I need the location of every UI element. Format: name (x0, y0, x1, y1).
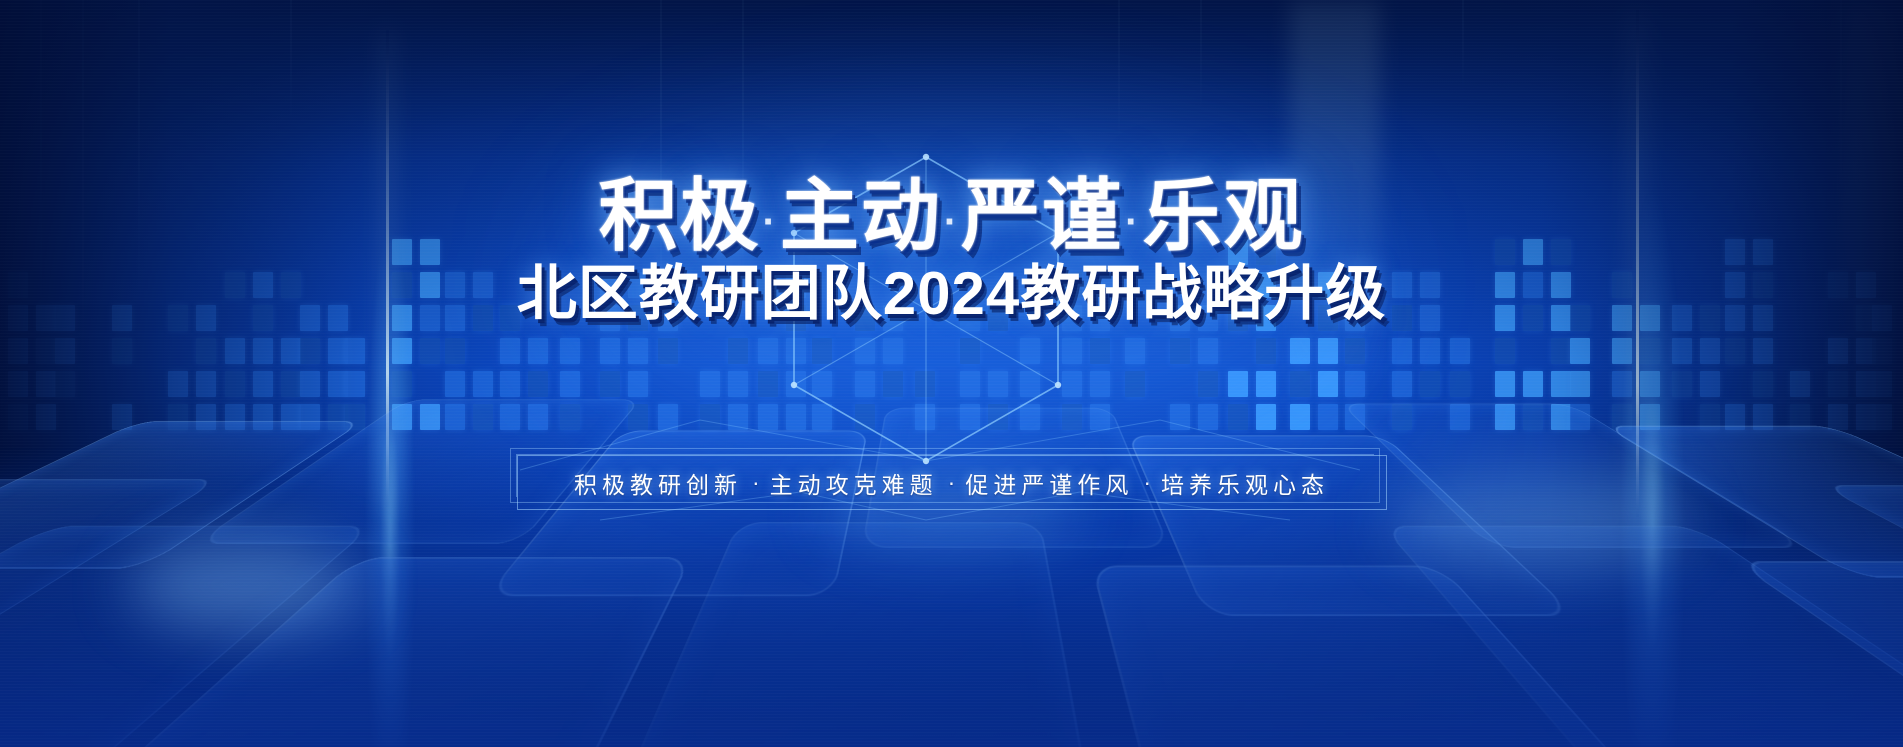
tagline-separator: · (1133, 469, 1161, 496)
tagline-item: 积极教研创新 (574, 466, 742, 500)
tagline-separator: · (938, 469, 966, 496)
banner-content: 积极·主动·严谨·乐观 北区教研团队2024教研战略升级 积极教研创新·主动攻克… (0, 0, 1903, 747)
headline-word: 积极 (599, 171, 761, 260)
headline-separator: · (942, 200, 961, 244)
tagline-separator: · (742, 469, 770, 496)
headline-separator: · (761, 200, 780, 244)
headline-separator: · (1123, 200, 1142, 244)
tagline: 积极教研创新·主动攻克难题·促进严谨作风·培养乐观心态 (518, 456, 1386, 509)
headline-word: 主动 (780, 171, 942, 260)
headline-word: 乐观 (1142, 171, 1304, 260)
page-subtitle: 北区教研团队2024教研战略升级 (0, 264, 1903, 324)
tagline-item: 培养乐观心态 (1161, 466, 1329, 500)
banner-stage: 积极·主动·严谨·乐观 北区教研团队2024教研战略升级 积极教研创新·主动攻克… (0, 0, 1903, 747)
page-title: 积极·主动·严谨·乐观 (0, 176, 1903, 255)
tagline-frame: 积极教研创新·主动攻克难题·促进严谨作风·培养乐观心态 (517, 455, 1387, 510)
tagline-item: 主动攻克难题 (770, 466, 938, 500)
tagline-item: 促进严谨作风 (965, 466, 1133, 500)
headline-word: 严谨 (961, 171, 1123, 260)
